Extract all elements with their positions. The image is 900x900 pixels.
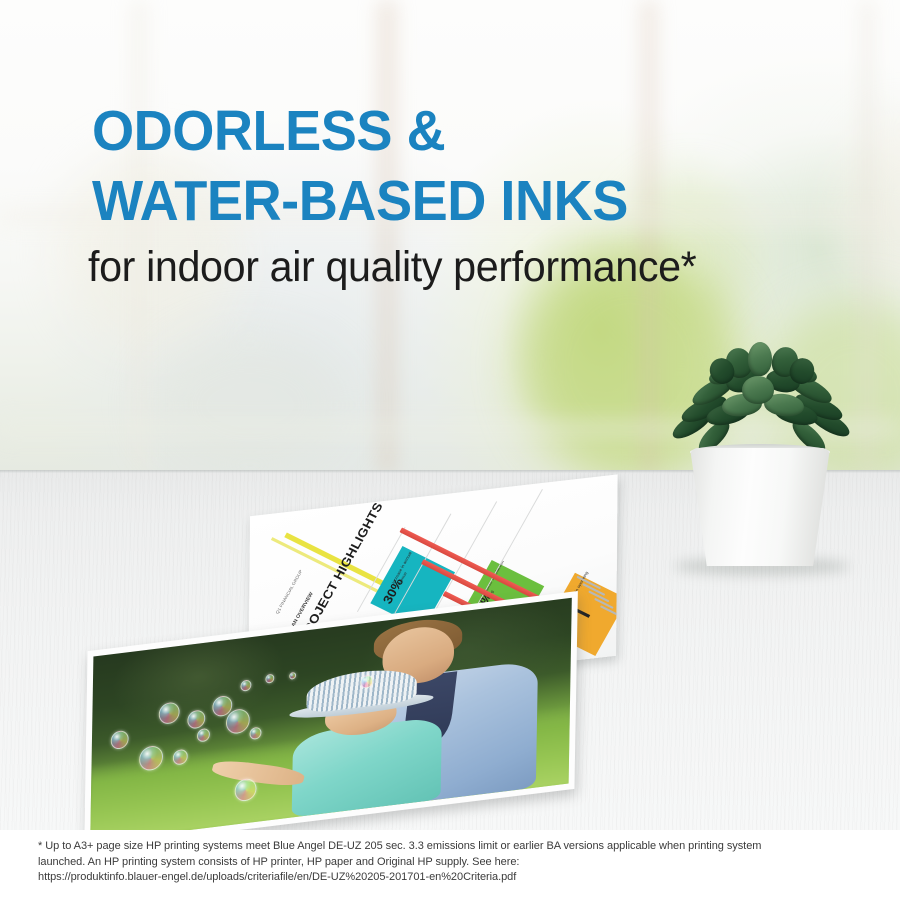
window-mullion — [636, 0, 662, 475]
footnote-line-1: * Up to A3+ page size HP printing system… — [38, 839, 866, 855]
headline-line-1: ODORLESS & — [92, 96, 628, 166]
footnote-url: https://produktinfo.blauer-engel.de/uplo… — [38, 870, 866, 886]
potted-succulent — [664, 342, 860, 574]
subheadline: for indoor air quality performance* — [88, 243, 696, 292]
footnote-line-2: launched. An HP printing system consists… — [38, 855, 866, 871]
footnote-block: * Up to A3+ page size HP printing system… — [0, 830, 900, 900]
ceramic-pot — [690, 448, 830, 566]
marketing-banner: Q1 FINANCIAL GROUP AN OVERVIEW PROJECT H… — [0, 0, 900, 900]
window-mullion — [372, 0, 402, 475]
window-mullion — [126, 0, 152, 475]
headline: ODORLESS & WATER-BASED INKS — [92, 96, 656, 236]
headline-line-2: WATER-BASED INKS — [92, 166, 628, 236]
stat-label: Increase in annual revenue — [391, 540, 425, 588]
background-foliage-blob — [150, 330, 350, 480]
